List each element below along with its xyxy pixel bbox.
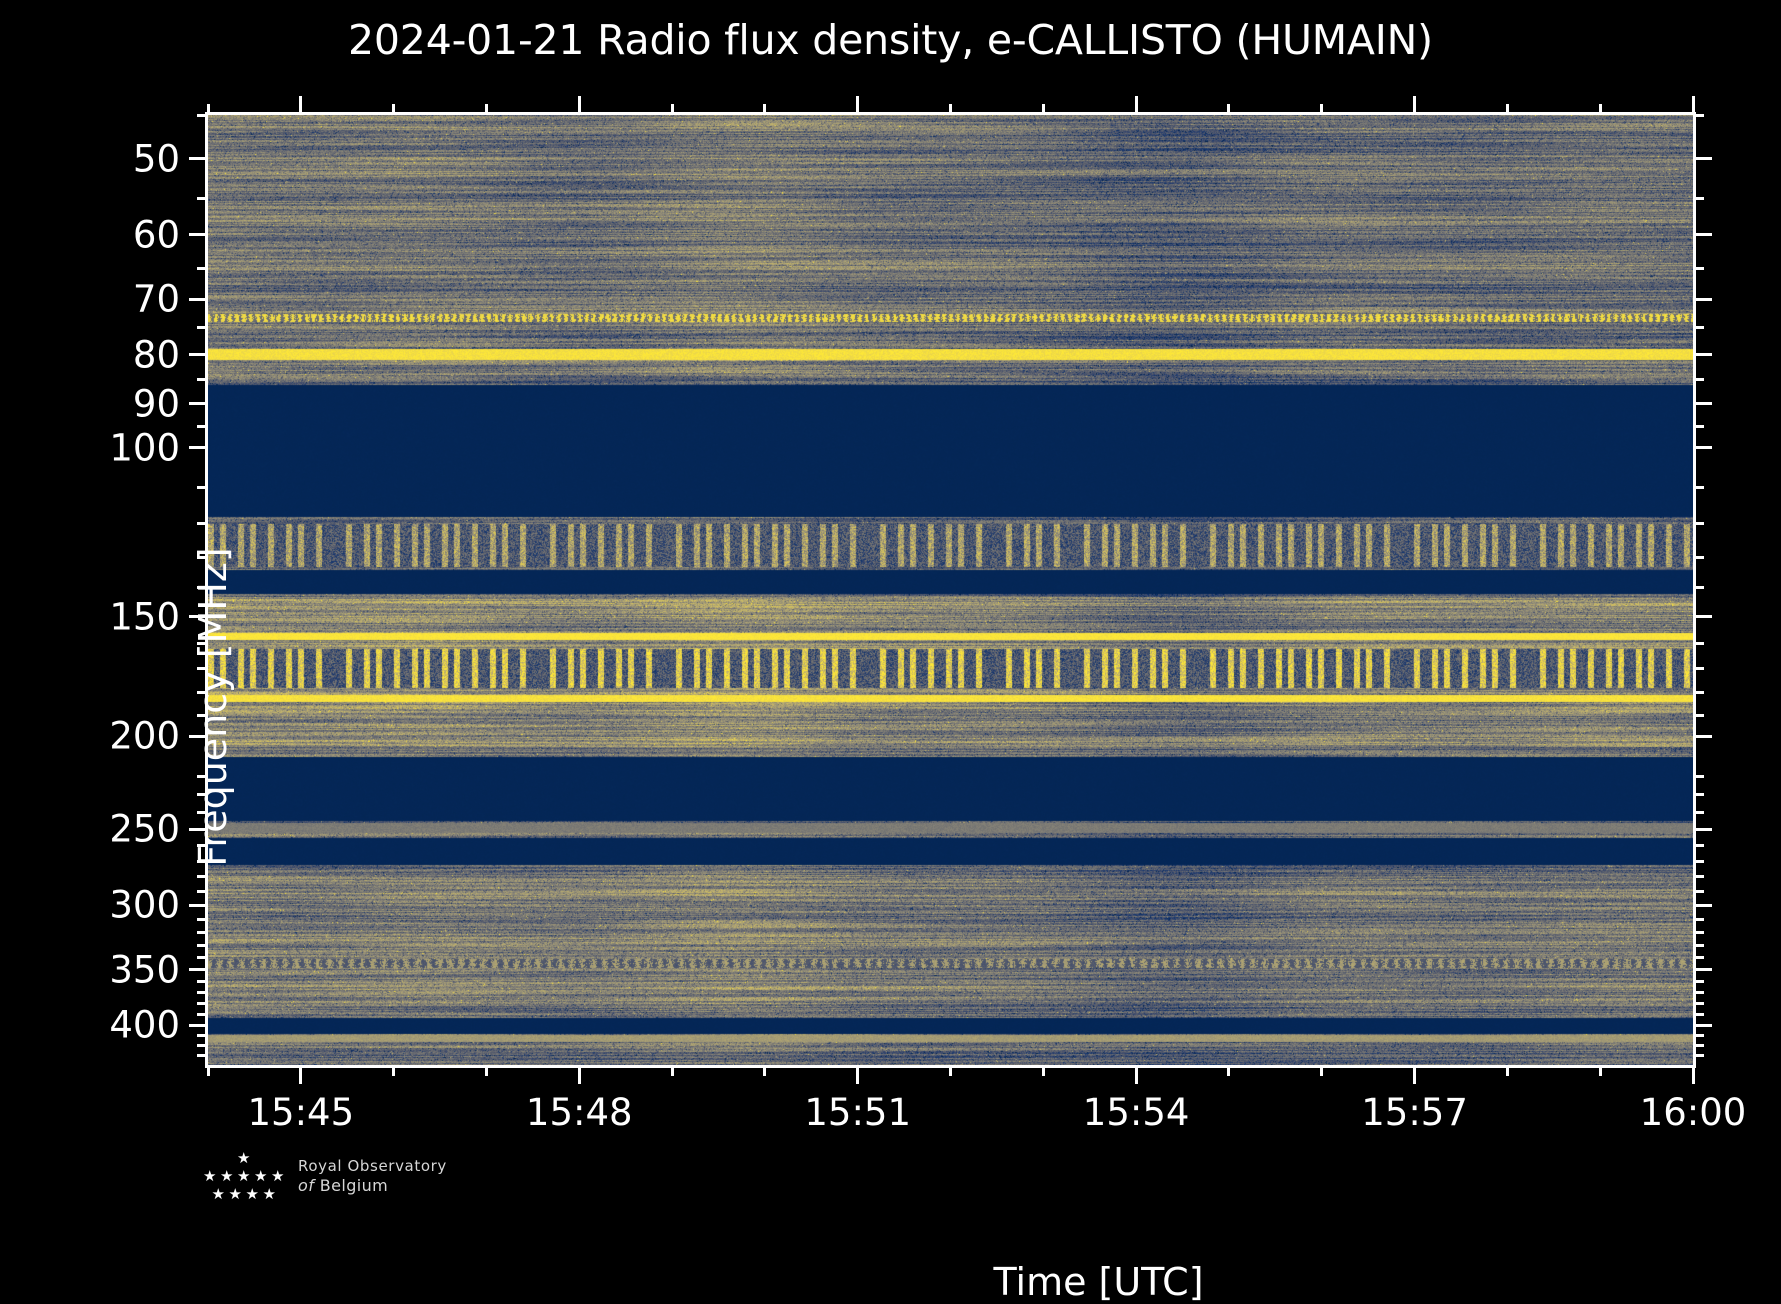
y-tick-minor-right: [1693, 326, 1704, 329]
y-tick-minor-right: [1693, 793, 1704, 796]
y-tick-minor: [197, 875, 208, 878]
star-icon: ★: [229, 1187, 242, 1202]
x-tick-mark-top: [856, 96, 859, 115]
y-tick-minor-right: [1693, 642, 1704, 645]
star-icon: ★: [254, 1169, 267, 1184]
y-tick-minor-right: [1693, 378, 1704, 381]
y-tick-minor-right: [1693, 197, 1704, 200]
x-tick-minor: [671, 1065, 674, 1076]
y-tick-label: 400: [109, 1004, 180, 1047]
y-tick-mark: [189, 615, 208, 618]
x-tick-minor: [1227, 1065, 1230, 1076]
y-tick-minor-right: [1693, 486, 1704, 489]
x-tick-minor: [763, 1065, 766, 1076]
y-tick-minor: [197, 944, 208, 947]
star-icon: ★: [212, 1187, 225, 1202]
y-tick-minor: [197, 931, 208, 934]
y-tick-label: 350: [109, 948, 180, 991]
y-tick-minor: [197, 793, 208, 796]
x-tick-mark-top: [1692, 96, 1695, 115]
y-tick-minor: [197, 1034, 208, 1037]
y-tick-minor: [197, 486, 208, 489]
y-tick-minor: [197, 956, 208, 959]
y-tick-label: 250: [109, 808, 180, 851]
star-icon: ★: [263, 1187, 276, 1202]
y-tick-minor-right: [1693, 556, 1704, 559]
x-axis-title: Time [UTC]: [208, 1260, 1781, 1304]
y-tick-minor-right: [1693, 1054, 1704, 1057]
x-tick-mark-top: [299, 96, 302, 115]
y-tick-minor-right: [1693, 775, 1704, 778]
y-axis-title: Frequency [MHz]: [191, 157, 235, 1257]
y-tick-minor-right: [1693, 114, 1704, 117]
x-tick-label: 15:45: [247, 1091, 354, 1134]
royal-observatory-logo: ★★★★★★★★★★ Royal Observatory of Belgium: [196, 1146, 436, 1208]
y-tick-minor-right: [1693, 931, 1704, 934]
y-tick-minor: [197, 522, 208, 525]
logo-line-2: of Belgium: [298, 1176, 447, 1196]
star-icon: ★: [237, 1151, 250, 1166]
y-tick-label: 50: [133, 137, 180, 180]
y-tick-mark: [189, 968, 208, 971]
x-tick-label: 16:00: [1640, 1091, 1747, 1134]
y-tick-minor: [197, 667, 208, 670]
y-tick-label: 300: [109, 884, 180, 927]
x-tick-mark-top: [1135, 96, 1138, 115]
figure-canvas: 2024-01-21 Radio flux density, e-CALLIST…: [0, 0, 1781, 1226]
y-tick-minor-right: [1693, 991, 1704, 994]
y-tick-mark: [189, 157, 208, 160]
y-tick-minor-right: [1693, 890, 1704, 893]
y-tick-minor: [197, 1044, 208, 1047]
y-tick-minor-right: [1693, 860, 1704, 863]
y-tick-minor-right: [1693, 1034, 1704, 1037]
y-tick-mark: [189, 402, 208, 405]
y-tick-mark: [189, 298, 208, 301]
y-tick-minor: [197, 642, 208, 645]
x-tick-label: 15:57: [1361, 1091, 1468, 1134]
logo-text: Royal Observatory of Belgium: [298, 1157, 447, 1197]
star-icon: ★: [246, 1187, 259, 1202]
y-tick-minor-right: [1693, 267, 1704, 270]
y-tick-mark-right: [1693, 446, 1712, 449]
y-tick-minor: [197, 1013, 208, 1016]
x-tick-mark: [856, 1065, 859, 1084]
x-tick-mark-top: [1413, 96, 1416, 115]
page-title: 2024-01-21 Radio flux density, e-CALLIST…: [0, 16, 1781, 64]
x-tick-mark: [1135, 1065, 1138, 1084]
y-tick-mark-right: [1693, 353, 1712, 356]
y-tick-mark-right: [1693, 904, 1712, 907]
x-tick-mark: [1413, 1065, 1416, 1084]
y-tick-label: 70: [133, 278, 180, 321]
y-tick-mark-right: [1693, 968, 1712, 971]
y-tick-minor-right: [1693, 1002, 1704, 1005]
y-tick-minor-right: [1693, 918, 1704, 921]
y-tick-mark: [189, 828, 208, 831]
stars-icon: ★★★★★★★★★★: [196, 1149, 288, 1205]
y-tick-label: 200: [109, 715, 180, 758]
x-tick-minor: [485, 1065, 488, 1076]
y-tick-mark-right: [1693, 233, 1712, 236]
x-tick-minor-top: [949, 104, 952, 115]
star-icon: ★: [220, 1169, 233, 1184]
y-tick-minor: [197, 267, 208, 270]
x-tick-minor-top: [207, 104, 210, 115]
spectrogram-plot-area[interactable]: Frequency [MHz] Time [UTC] 5060708090100…: [205, 112, 1696, 1068]
y-tick-minor-right: [1693, 1044, 1704, 1047]
y-tick-mark: [189, 233, 208, 236]
y-tick-minor: [197, 425, 208, 428]
y-tick-label: 60: [133, 213, 180, 256]
y-tick-minor-right: [1693, 522, 1704, 525]
x-tick-minor-top: [671, 104, 674, 115]
y-tick-minor: [197, 890, 208, 893]
y-tick-label: 90: [133, 382, 180, 425]
x-tick-minor-top: [763, 104, 766, 115]
x-tick-mark: [578, 1065, 581, 1084]
y-tick-mark-right: [1693, 157, 1712, 160]
y-tick-mark: [189, 446, 208, 449]
y-tick-minor: [197, 1002, 208, 1005]
x-tick-minor-top: [1227, 104, 1230, 115]
x-tick-minor-top: [1599, 104, 1602, 115]
y-tick-mark: [189, 1024, 208, 1027]
x-tick-minor: [1042, 1065, 1045, 1076]
y-tick-minor: [197, 980, 208, 983]
y-tick-minor-right: [1693, 586, 1704, 589]
y-tick-minor: [197, 378, 208, 381]
logo-line-1: Royal Observatory: [298, 1157, 447, 1176]
y-tick-minor: [197, 586, 208, 589]
y-tick-minor-right: [1693, 844, 1704, 847]
star-icon: ★: [271, 1169, 284, 1184]
x-tick-minor: [1320, 1065, 1323, 1076]
y-tick-minor: [197, 918, 208, 921]
y-tick-minor: [197, 326, 208, 329]
x-tick-mark-top: [578, 96, 581, 115]
y-tick-minor: [197, 991, 208, 994]
x-tick-minor-top: [1506, 104, 1509, 115]
y-tick-minor: [197, 844, 208, 847]
y-tick-minor-right: [1693, 980, 1704, 983]
y-tick-mark-right: [1693, 1024, 1712, 1027]
x-tick-minor-top: [1042, 104, 1045, 115]
y-tick-mark-right: [1693, 735, 1712, 738]
x-tick-label: 15:48: [526, 1091, 633, 1134]
y-tick-mark-right: [1693, 615, 1712, 618]
y-tick-mark-right: [1693, 402, 1712, 405]
x-tick-mark: [1692, 1065, 1695, 1084]
y-tick-minor: [197, 556, 208, 559]
x-tick-label: 15:51: [804, 1091, 911, 1134]
x-tick-minor: [207, 1065, 210, 1076]
y-tick-minor: [197, 197, 208, 200]
y-tick-minor-right: [1693, 691, 1704, 694]
y-tick-mark: [189, 904, 208, 907]
x-tick-minor: [1506, 1065, 1509, 1076]
star-icon: ★: [203, 1169, 216, 1184]
y-tick-minor: [197, 714, 208, 717]
x-tick-minor: [392, 1065, 395, 1076]
y-tick-mark: [189, 735, 208, 738]
x-tick-minor: [949, 1065, 952, 1076]
y-tick-label: 80: [133, 333, 180, 376]
star-icon: ★: [237, 1169, 250, 1184]
x-tick-label: 15:54: [1083, 1091, 1190, 1134]
x-tick-mark: [299, 1065, 302, 1084]
y-tick-minor: [197, 691, 208, 694]
x-tick-minor-top: [485, 104, 488, 115]
y-tick-label: 100: [109, 426, 180, 469]
y-tick-minor: [197, 860, 208, 863]
y-tick-mark-right: [1693, 828, 1712, 831]
y-tick-minor: [197, 811, 208, 814]
y-tick-mark-right: [1693, 298, 1712, 301]
y-tick-minor-right: [1693, 425, 1704, 428]
y-tick-mark: [189, 353, 208, 356]
y-tick-minor-right: [1693, 1013, 1704, 1016]
y-tick-minor-right: [1693, 944, 1704, 947]
y-tick-minor: [197, 1054, 208, 1057]
logo-country: Belgium: [320, 1176, 388, 1195]
y-tick-minor-right: [1693, 714, 1704, 717]
logo-of-word: of: [298, 1176, 314, 1195]
x-tick-minor: [1599, 1065, 1602, 1076]
y-tick-minor: [197, 775, 208, 778]
y-tick-minor-right: [1693, 667, 1704, 670]
y-tick-label: 150: [109, 595, 180, 638]
y-tick-minor-right: [1693, 811, 1704, 814]
y-tick-minor-right: [1693, 875, 1704, 878]
x-tick-minor-top: [392, 104, 395, 115]
spectrogram-image: [208, 115, 1693, 1065]
y-tick-minor-right: [1693, 956, 1704, 959]
x-tick-minor-top: [1320, 104, 1323, 115]
